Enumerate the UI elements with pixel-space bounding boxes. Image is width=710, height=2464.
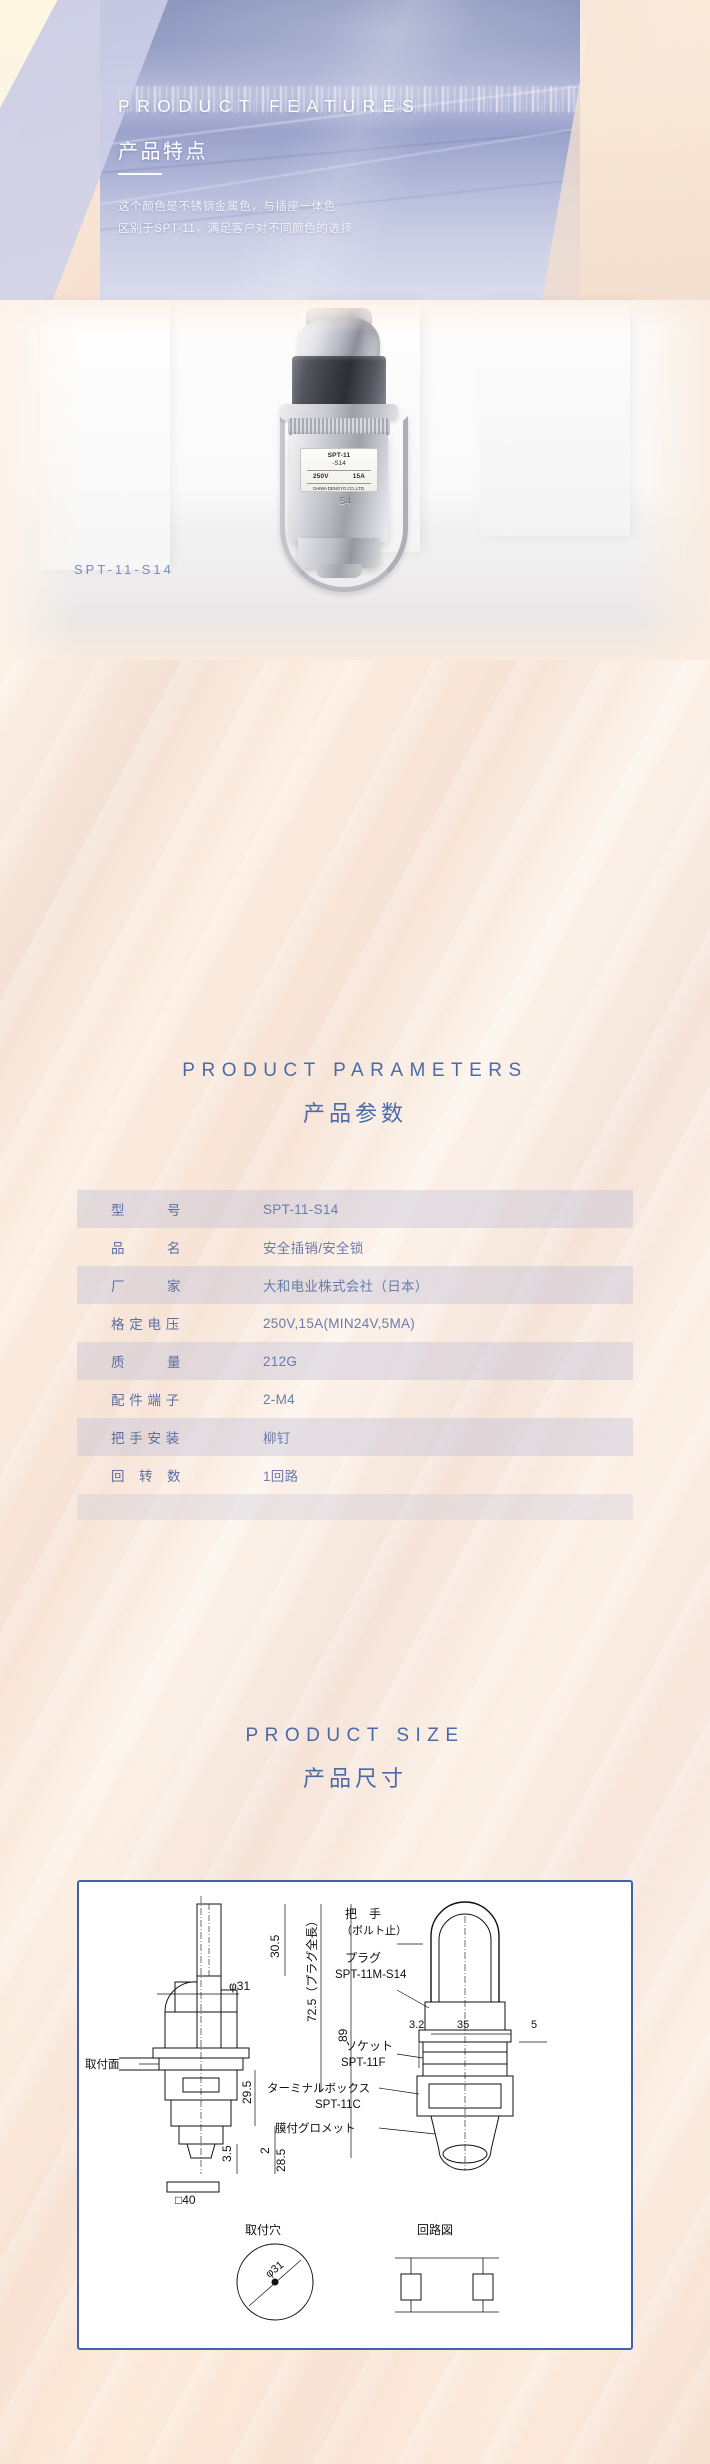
row-value: 250V,15A(MIN24V,5MA) [263, 1316, 415, 1331]
row-value: 安全插销/安全锁 [263, 1237, 364, 1257]
parameters-title-cn: 产品参数 [0, 1096, 710, 1128]
row-value: 柳钉 [263, 1427, 291, 1447]
hero-desc-line-2: 区别于SPT-11，满足客户对不同颜色的选择 [118, 218, 538, 240]
label-plug: プラグ [345, 1951, 381, 1965]
row-key: 质 量 [77, 1351, 263, 1371]
hero-title-underline [118, 173, 162, 175]
table-footer-band [77, 1494, 633, 1520]
label-circuit-diagram: 回路図 [417, 2222, 453, 2237]
table-row: 把 手 安 装柳钉 [77, 1418, 633, 1456]
row-key: 格 定 电 压 [77, 1313, 263, 1333]
product-photo-section: SPT-11 -S14 250V 15A DAIWA DENGYO CO.,LT… [0, 300, 710, 660]
row-value: 2-M4 [263, 1392, 295, 1407]
dim-3-2: 3.2 [409, 2019, 424, 2031]
label-mount-face: 取付面 [85, 2058, 120, 2071]
label-socket-model: SPT-11F [341, 2057, 386, 2069]
row-key: 型 号 [77, 1199, 263, 1219]
dim-hole-diameter: φ31 [263, 2259, 286, 2280]
label-handle: 把 手 [345, 1907, 381, 1921]
table-row: 品 名安全插销/安全锁 [77, 1228, 633, 1266]
label-plug-model: SPT-11M-S14 [335, 1969, 407, 1981]
label-socket: ソケット [345, 2039, 393, 2053]
dim-28-5: 28.5 [274, 2148, 288, 2172]
label-handle-note: （ボルト止） [341, 1924, 407, 1937]
label-terminal-box: ターミナルボックス [267, 2082, 370, 2095]
row-key: 配 件 端 子 [77, 1389, 263, 1409]
row-value: SPT-11-S14 [263, 1202, 339, 1217]
row-key: 回 转 数 [77, 1465, 263, 1485]
dim-29-5: 29.5 [240, 2080, 254, 2104]
dim-5: 5 [531, 2019, 537, 2031]
label-terminal-box-model: SPT-11C [315, 2099, 361, 2111]
hero-text-block: PRODUCT FEATURES 产品特点 这个颜色是不锈钢金属色，与插座一体色… [118, 96, 538, 240]
label-mount-hole: 取付穴 [245, 2222, 281, 2237]
parameters-title-en: PRODUCT PARAMETERS [0, 1060, 710, 1082]
hero-title-cn: 产品特点 [118, 135, 538, 164]
table-row: 型 号SPT-11-S14 [77, 1190, 633, 1228]
hero-title-en: PRODUCT FEATURES [118, 96, 538, 117]
table-row: 质 量212G [77, 1342, 633, 1380]
label-grommet: 膜付グロメット [275, 2121, 356, 2135]
dim-30-5: 30.5 [268, 1934, 282, 1958]
hero-desc-line-1: 这个颜色是不锈钢金属色，与插座一体色 [118, 196, 538, 218]
row-value: 1回路 [263, 1465, 298, 1485]
row-key: 厂 家 [77, 1275, 263, 1295]
row-key: 品 名 [77, 1237, 263, 1257]
size-title-en: PRODUCT SIZE [0, 1725, 710, 1747]
parameters-table: 型 号SPT-11-S14 品 名安全插销/安全锁 厂 家大和电业株式会社（日本… [77, 1190, 633, 1520]
table-row: 回 转 数1回路 [77, 1456, 633, 1494]
row-value: 大和电业株式会社（日本） [263, 1275, 429, 1295]
size-title-cn: 产品尺寸 [0, 1761, 710, 1793]
product-photo-caption: SPT-11-S14 [74, 562, 174, 577]
table-row: 配 件 端 子2-M4 [77, 1380, 633, 1418]
table-row: 格 定 电 压250V,15A(MIN24V,5MA) [77, 1304, 633, 1342]
row-value: 212G [263, 1354, 297, 1369]
dim-72-5: 72.5（プラグ全長） [304, 1915, 319, 2022]
size-section-heading: PRODUCT SIZE 产品尺寸 [0, 1725, 710, 1793]
table-row: 厂 家大和电业株式会社（日本） [77, 1266, 633, 1304]
dim-35: 35 [457, 2019, 469, 2031]
hero-description: 这个颜色是不锈钢金属色，与插座一体色 区别于SPT-11，满足客户对不同颜色的选… [118, 196, 538, 240]
technical-drawing-panel: φ31 30.5 72.5（プラグ全長） 89 29.5 3.5 2 28.5 … [77, 1880, 633, 2350]
dim-2: 2 [258, 2147, 272, 2154]
hero-banner: PRODUCT FEATURES 产品特点 这个颜色是不锈钢金属色，与插座一体色… [0, 0, 710, 300]
technical-drawing-svg: φ31 30.5 72.5（プラグ全長） 89 29.5 3.5 2 28.5 … [79, 1882, 631, 2348]
dim-square-40: □40 [175, 2193, 196, 2207]
row-key: 把 手 安 装 [77, 1427, 263, 1447]
dim-diameter-top: φ31 [229, 1979, 250, 1993]
photo-edge-fade [0, 300, 710, 660]
dim-3-5: 3.5 [220, 2145, 234, 2162]
parameters-section-heading: PRODUCT PARAMETERS 产品参数 [0, 1060, 710, 1128]
